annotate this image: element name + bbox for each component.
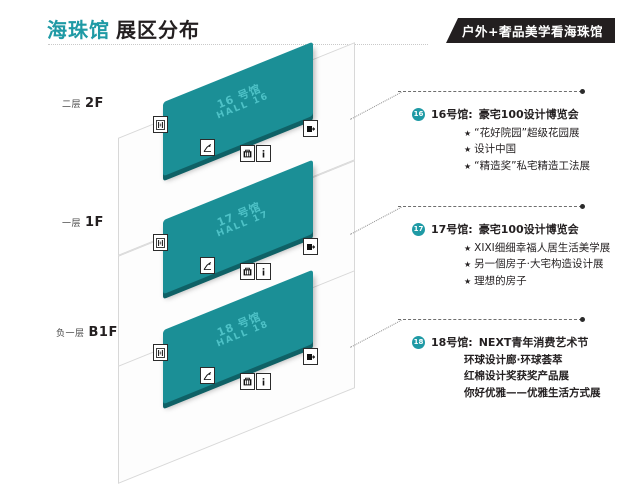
- escalator-icon: [200, 257, 215, 274]
- info-head-18: 18 18号馆: NEXT青年消费艺术节: [412, 334, 601, 350]
- floor-label-2f: 二层 2F: [62, 96, 104, 111]
- rail-end-dot-2f: [580, 89, 585, 94]
- list-item: 环球设计廊·环球荟萃: [464, 352, 601, 368]
- connector-line-b1f: [350, 320, 402, 348]
- list-item-label: 另一個房子·大宅构造设计展: [474, 258, 603, 270]
- exit-icon: [303, 348, 318, 365]
- list-item-label: XIXI细细幸福人居生活美学展: [474, 242, 610, 254]
- info-title-16: 豪宅100设计博览会: [479, 106, 579, 122]
- page-title-main: 展区分布: [116, 14, 200, 43]
- dashed-rail-b1f: [398, 319, 582, 320]
- elevator-icon: [153, 116, 168, 133]
- floor-label-b1f: 负一层 B1F: [56, 325, 118, 340]
- exhibit-icon: [240, 145, 255, 162]
- hall-name-en: HALL 17: [197, 202, 290, 247]
- info-title-17: 豪宅100设计博览会: [479, 221, 579, 237]
- elevator-icon: [153, 234, 168, 251]
- list-item: ★XIXI细细幸福人居生活美学展: [464, 240, 610, 256]
- dashed-rail-2f: [398, 91, 582, 92]
- list-item: ★理想的房子: [464, 273, 610, 289]
- list-item: ★设计中国: [464, 141, 590, 157]
- badge-18: 18: [412, 336, 425, 349]
- list-item: ★“花好院园”超级花园展: [464, 125, 590, 141]
- floor-label-cn: 二层: [62, 97, 81, 110]
- info-list-16: ★“花好院园”超级花园展 ★设计中国 ★“精造奖”私宅精造工法展: [464, 125, 590, 174]
- escalator-icon: [200, 367, 215, 384]
- info-block-16: 16 16号馆: 豪宅100设计博览会 ★“花好院园”超级花园展 ★设计中国 ★…: [412, 106, 590, 174]
- page-title-accent: 海珠馆: [47, 14, 110, 43]
- bullet-star-icon: ★: [464, 145, 471, 154]
- exhibit-icon: [240, 373, 255, 390]
- info-hall-18: 18号馆:: [431, 334, 473, 350]
- hall-name-cn: 16 号馆: [193, 74, 286, 121]
- tagline-ribbon: 户外+奢品美学看海珠馆: [446, 18, 615, 43]
- bullet-star-icon: ★: [464, 277, 471, 286]
- exit-icon: [303, 238, 318, 255]
- info-hall-17: 17号馆:: [431, 221, 473, 237]
- list-item-label: 设计中国: [474, 143, 516, 155]
- information-icon: [256, 373, 271, 390]
- info-block-18: 18 18号馆: NEXT青年消费艺术节 环球设计廊·环球荟萃 红棉设计奖获奖产…: [412, 334, 601, 401]
- dashed-rail-1f: [398, 206, 582, 207]
- info-list-17: ★XIXI细细幸福人居生活美学展 ★另一個房子·大宅构造设计展 ★理想的房子: [464, 240, 610, 289]
- badge-17: 17: [412, 223, 425, 236]
- hall-name-en: HALL 16: [197, 84, 290, 129]
- badge-16: 16: [412, 108, 425, 121]
- information-icon: [256, 263, 271, 280]
- info-hall-16: 16号馆:: [431, 106, 473, 122]
- connector-line-1f: [350, 207, 402, 235]
- floor-label-cn: 一层: [62, 216, 81, 229]
- information-icon: [256, 145, 271, 162]
- floor-label-en: 2F: [85, 96, 104, 111]
- list-item: 你好优雅——优雅生活方式展: [464, 385, 601, 401]
- floor-label-en: B1F: [89, 325, 118, 340]
- list-item-label: “花好院园”超级花园展: [474, 127, 579, 139]
- bullet-star-icon: ★: [464, 260, 471, 269]
- floor-label-en: 1F: [85, 215, 104, 230]
- exit-icon: [303, 120, 318, 137]
- rail-end-dot-1f: [580, 204, 585, 209]
- list-item-label: “精造奖”私宅精造工法展: [474, 160, 590, 172]
- escalator-icon: [200, 139, 215, 156]
- info-list-18: 环球设计廊·环球荟萃 红棉设计奖获奖产品展 你好优雅——优雅生活方式展: [464, 352, 601, 401]
- bullet-star-icon: ★: [464, 129, 471, 138]
- floor-label-1f: 一层 1F: [62, 215, 104, 230]
- info-block-17: 17 17号馆: 豪宅100设计博览会 ★XIXI细细幸福人居生活美学展 ★另一…: [412, 221, 610, 289]
- elevator-icon: [153, 344, 168, 361]
- bullet-star-icon: ★: [464, 162, 471, 171]
- hall-slab-16-text: 16 号馆 HALL 16: [193, 74, 290, 129]
- poster-canvas: 海珠馆 展区分布 户外+奢品美学看海珠馆 二层 2F 16 号馆 HALL 16…: [0, 0, 635, 430]
- list-item-label: 理想的房子: [474, 275, 527, 287]
- list-item: 红棉设计奖获奖产品展: [464, 368, 601, 384]
- bullet-star-icon: ★: [464, 244, 471, 253]
- connector-line-2f: [350, 92, 402, 120]
- list-item: ★“精造奖”私宅精造工法展: [464, 158, 590, 174]
- list-item: ★另一個房子·大宅构造设计展: [464, 256, 610, 272]
- header-divider: [48, 44, 428, 45]
- exhibit-icon: [240, 263, 255, 280]
- page-title: 海珠馆 展区分布: [47, 14, 200, 43]
- rail-end-dot-b1f: [580, 317, 585, 322]
- info-head-17: 17 17号馆: 豪宅100设计博览会: [412, 221, 610, 237]
- hall-name-en: HALL 18: [197, 312, 290, 357]
- info-head-16: 16 16号馆: 豪宅100设计博览会: [412, 106, 590, 122]
- floor-label-cn: 负一层: [56, 326, 85, 339]
- info-title-18: NEXT青年消费艺术节: [479, 334, 589, 350]
